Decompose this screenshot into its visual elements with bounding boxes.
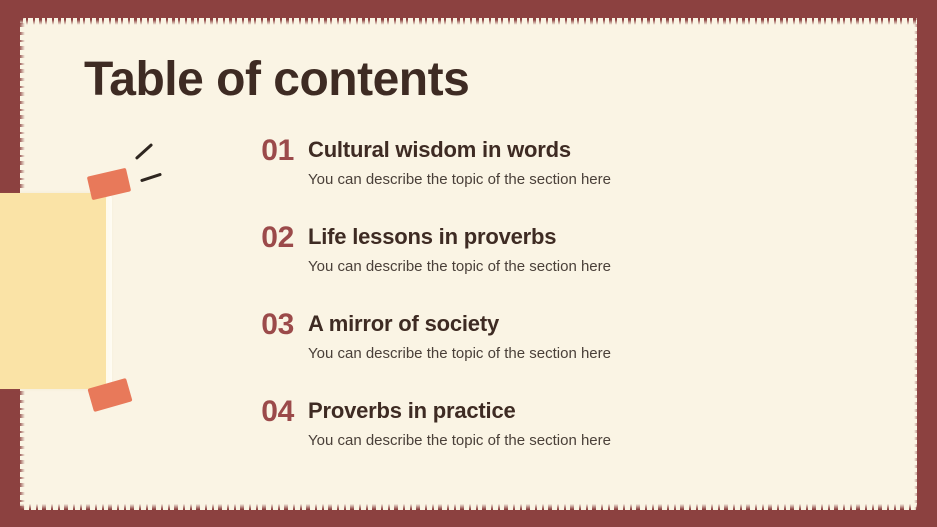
toc-item-heading: Cultural wisdom in words bbox=[308, 136, 571, 164]
toc-item-description: You can describe the topic of the sectio… bbox=[308, 344, 611, 364]
toc-item-heading: Life lessons in proverbs bbox=[308, 223, 556, 251]
toc-item-04[interactable]: 04 Proverbs in practice You can describe… bbox=[232, 395, 752, 482]
toc-item-number: 02 bbox=[232, 221, 294, 255]
toc-item-03[interactable]: 03 A mirror of society You can describe … bbox=[232, 308, 752, 395]
toc-item-description: You can describe the topic of the sectio… bbox=[308, 257, 611, 277]
toc-item-description: You can describe the topic of the sectio… bbox=[308, 170, 611, 190]
toc-item-heading: Proverbs in practice bbox=[308, 397, 516, 425]
toc-item-number: 03 bbox=[232, 308, 294, 342]
table-of-contents-list: 01 Cultural wisdom in words You can desc… bbox=[232, 134, 752, 482]
toc-item-number: 04 bbox=[232, 395, 294, 429]
slide-canvas: Table of contents 01 Cultural wisdom in … bbox=[0, 0, 937, 527]
toc-item-01[interactable]: 01 Cultural wisdom in words You can desc… bbox=[232, 134, 752, 221]
sticky-note bbox=[0, 193, 108, 389]
toc-item-description: You can describe the topic of the sectio… bbox=[308, 431, 611, 451]
toc-item-number: 01 bbox=[232, 134, 294, 168]
toc-item-02[interactable]: 02 Life lessons in proverbs You can desc… bbox=[232, 221, 752, 308]
toc-item-heading: A mirror of society bbox=[308, 310, 499, 338]
page-title: Table of contents bbox=[84, 52, 469, 107]
